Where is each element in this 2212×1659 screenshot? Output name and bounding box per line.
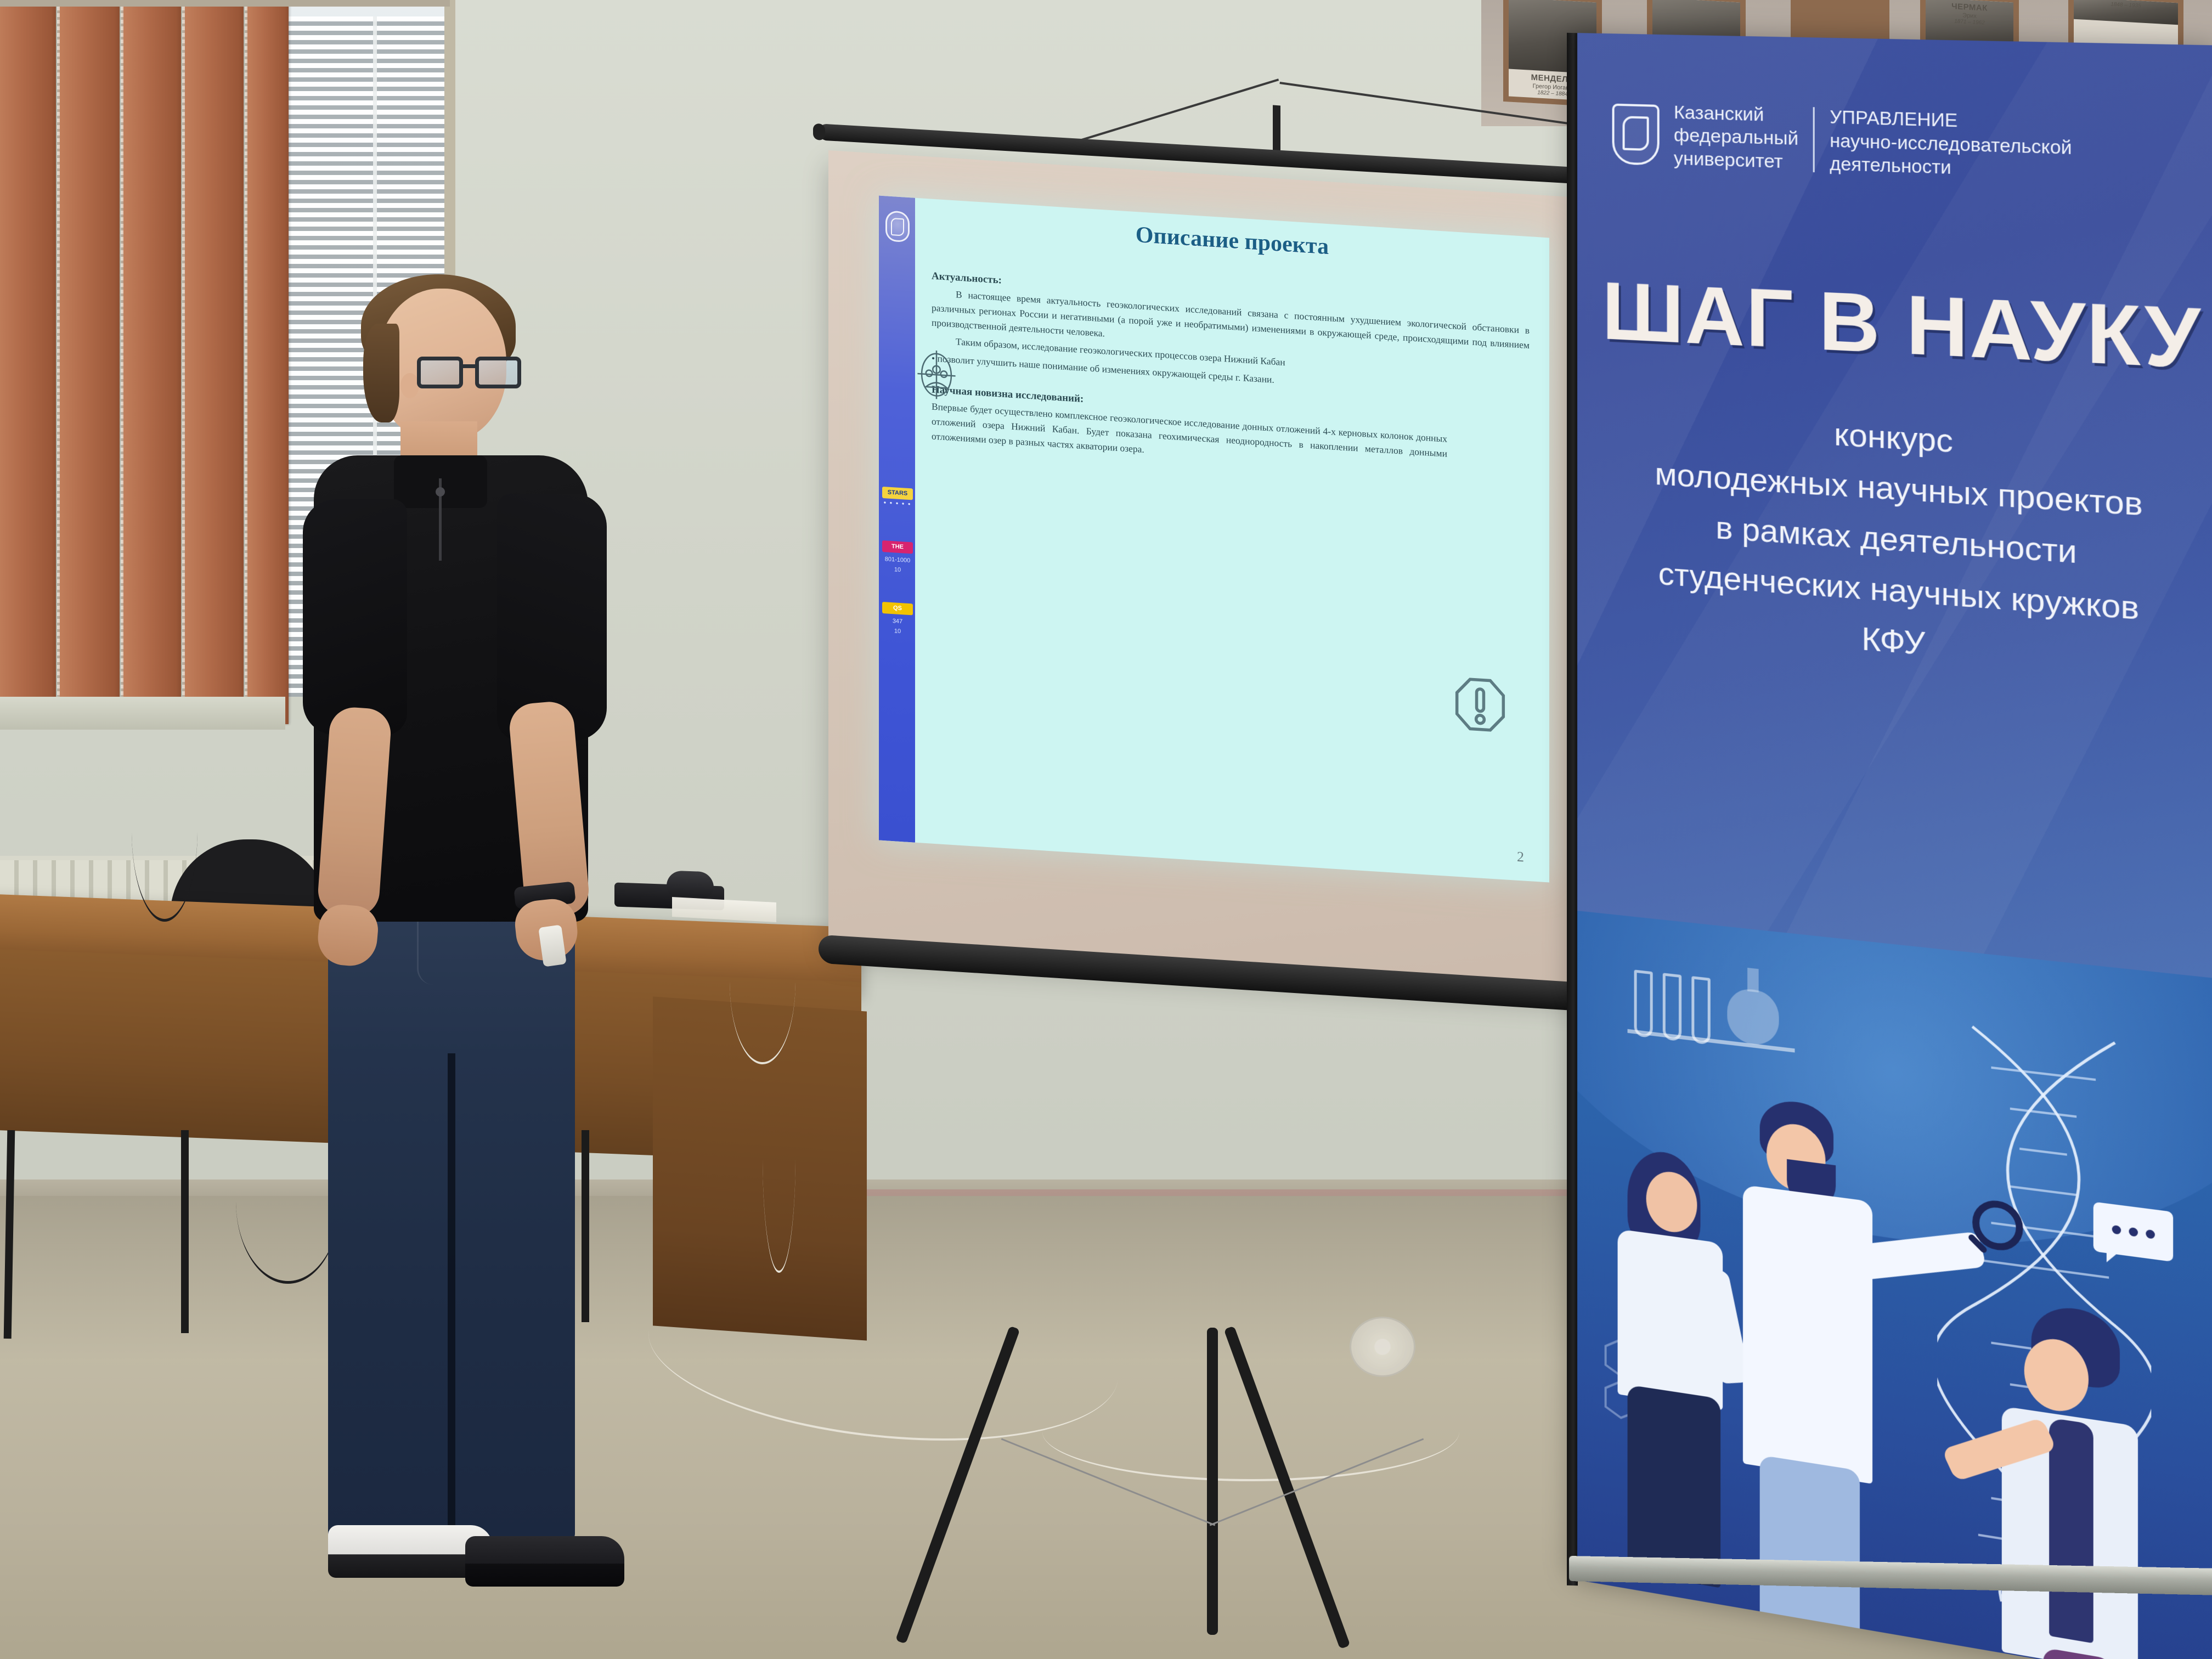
presenter-ear [400, 373, 419, 398]
qs-chip: QS [882, 602, 913, 616]
desk-leg [181, 1130, 189, 1333]
rollup-banner: Казанский федеральный университет УПРАВЛ… [1577, 33, 2212, 1659]
slide-side-rail: STARS ● ● ● ● ● THE 801-1000 10 QS 347 1… [879, 196, 915, 843]
qs-rank-value: 347 10 [893, 618, 902, 635]
kfu-emblem-icon [885, 210, 910, 242]
wall-cable [132, 741, 198, 922]
tape-roll [1350, 1317, 1415, 1377]
banner-logo-row: Казанский федеральный университет УПРАВЛ… [1612, 100, 2197, 188]
presenter-left-sleeve [303, 499, 407, 735]
rank-badge-qs: QS 347 10 [882, 602, 913, 637]
stars-dots: ● ● ● ● ● [882, 500, 913, 507]
presenter-glasses [417, 357, 521, 391]
test-tube-icon [1691, 976, 1710, 1045]
presenter [236, 274, 686, 1415]
tripod-center-post [1207, 1328, 1218, 1635]
projector-screen: STARS ● ● ● ● ● THE 801-1000 10 QS 347 1… [828, 137, 1629, 993]
rank-badge-the: THE 801-1000 10 [882, 540, 913, 575]
test-tube-icon [1634, 970, 1653, 1039]
power-cable [730, 900, 795, 1064]
kfu-shield-icon [1612, 104, 1660, 166]
projected-slide: STARS ● ● ● ● ● THE 801-1000 10 QS 347 1… [879, 196, 1549, 883]
banner-subtitle: конкурс молодежных научных проектов в ра… [1599, 396, 2205, 691]
photo-scene: МЕНДЕЛЬ Грегор Иоганн 1822 – 1884 ВЕЙСМА… [0, 0, 2212, 1659]
presenter-jeans-inseam [448, 1053, 455, 1542]
presenter-jeans-fly [417, 919, 461, 985]
slide-page-number: 2 [1517, 849, 1524, 866]
target-people-icon [915, 347, 958, 403]
presenter-hair-side [363, 324, 399, 422]
banner-university-name: Казанский федеральный университет [1674, 101, 1798, 174]
exclamation-octagon-icon [1455, 676, 1505, 733]
chat-bubble-icon [2093, 1201, 2173, 1262]
banner-artwork [1577, 911, 2212, 1659]
presenter-right-shoe [465, 1536, 624, 1587]
logo-divider [1813, 107, 1815, 172]
blind-rail [0, 0, 450, 7]
the-rank-value: 801-1000 10 [885, 556, 911, 573]
rank-badge-stars: STARS ● ● ● ● ● [882, 487, 913, 507]
test-tube-icon [1663, 973, 1681, 1041]
slide-body: Актуальность: В настоящее время актуальн… [932, 270, 1530, 484]
stars-chip: STARS [882, 487, 913, 500]
banner-headline: ШАГ В НАУКУ [1577, 263, 2212, 390]
power-cable [763, 1042, 795, 1273]
banner-department-name: УПРАВЛЕНИЕ научно-исследовательской деят… [1830, 105, 2072, 183]
the-chip: THE [882, 540, 913, 554]
banner-left-pole [1567, 33, 1578, 1585]
presenter-shirt-button [436, 487, 445, 496]
